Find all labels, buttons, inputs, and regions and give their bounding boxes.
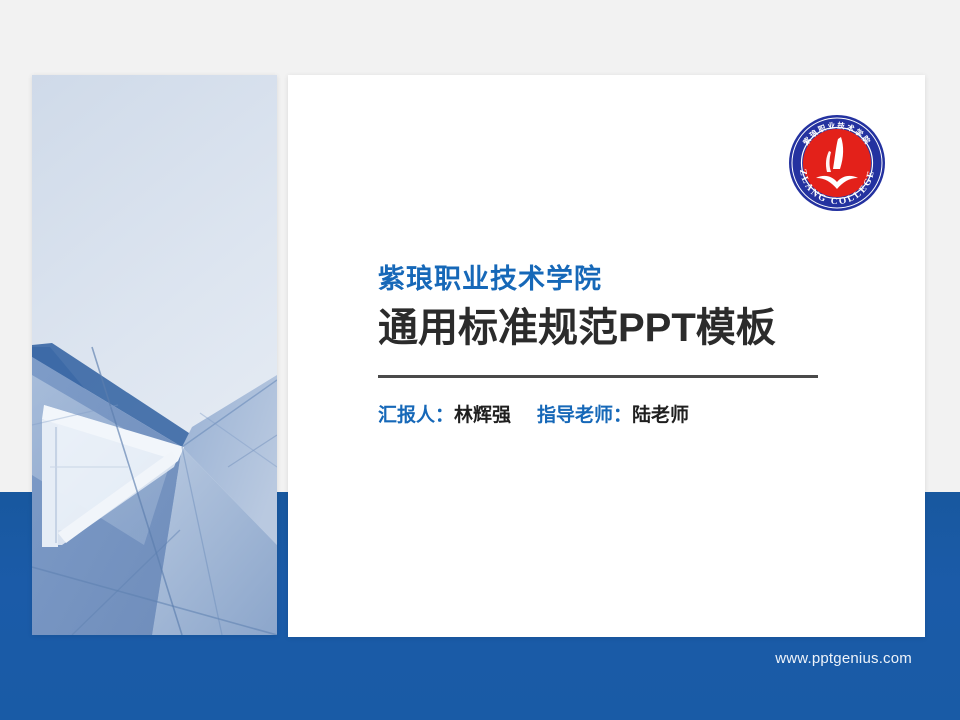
photo-artwork <box>32 75 277 635</box>
reporter-label: 汇报人： <box>378 405 454 426</box>
presenter-row: 汇报人：林辉强指导老师：陆老师 <box>378 404 838 429</box>
footer-website-url: www.pptgenius.com <box>0 650 912 667</box>
advisor-name: 陆老师 <box>632 405 689 426</box>
zlang-college-logo: ZLANG COLLEGE 紫琅职业技术学院 <box>786 112 888 214</box>
advisor-label: 指导老师： <box>537 405 632 426</box>
presentation-slide: ZLANG COLLEGE 紫琅职业技术学院 紫琅职业技术学院 通用标准规范PP… <box>0 0 960 720</box>
title-divider <box>378 375 818 378</box>
college-emblem-icon: ZLANG COLLEGE 紫琅职业技术学院 <box>786 112 888 214</box>
school-name: 紫琅职业技术学院 <box>378 263 838 295</box>
page-title: 通用标准规范PPT模板 <box>378 305 838 352</box>
architecture-blue-panels-photo <box>32 75 277 635</box>
reporter-name: 林辉强 <box>454 405 511 426</box>
title-text-block: 紫琅职业技术学院 通用标准规范PPT模板 汇报人：林辉强指导老师：陆老师 <box>378 263 838 428</box>
